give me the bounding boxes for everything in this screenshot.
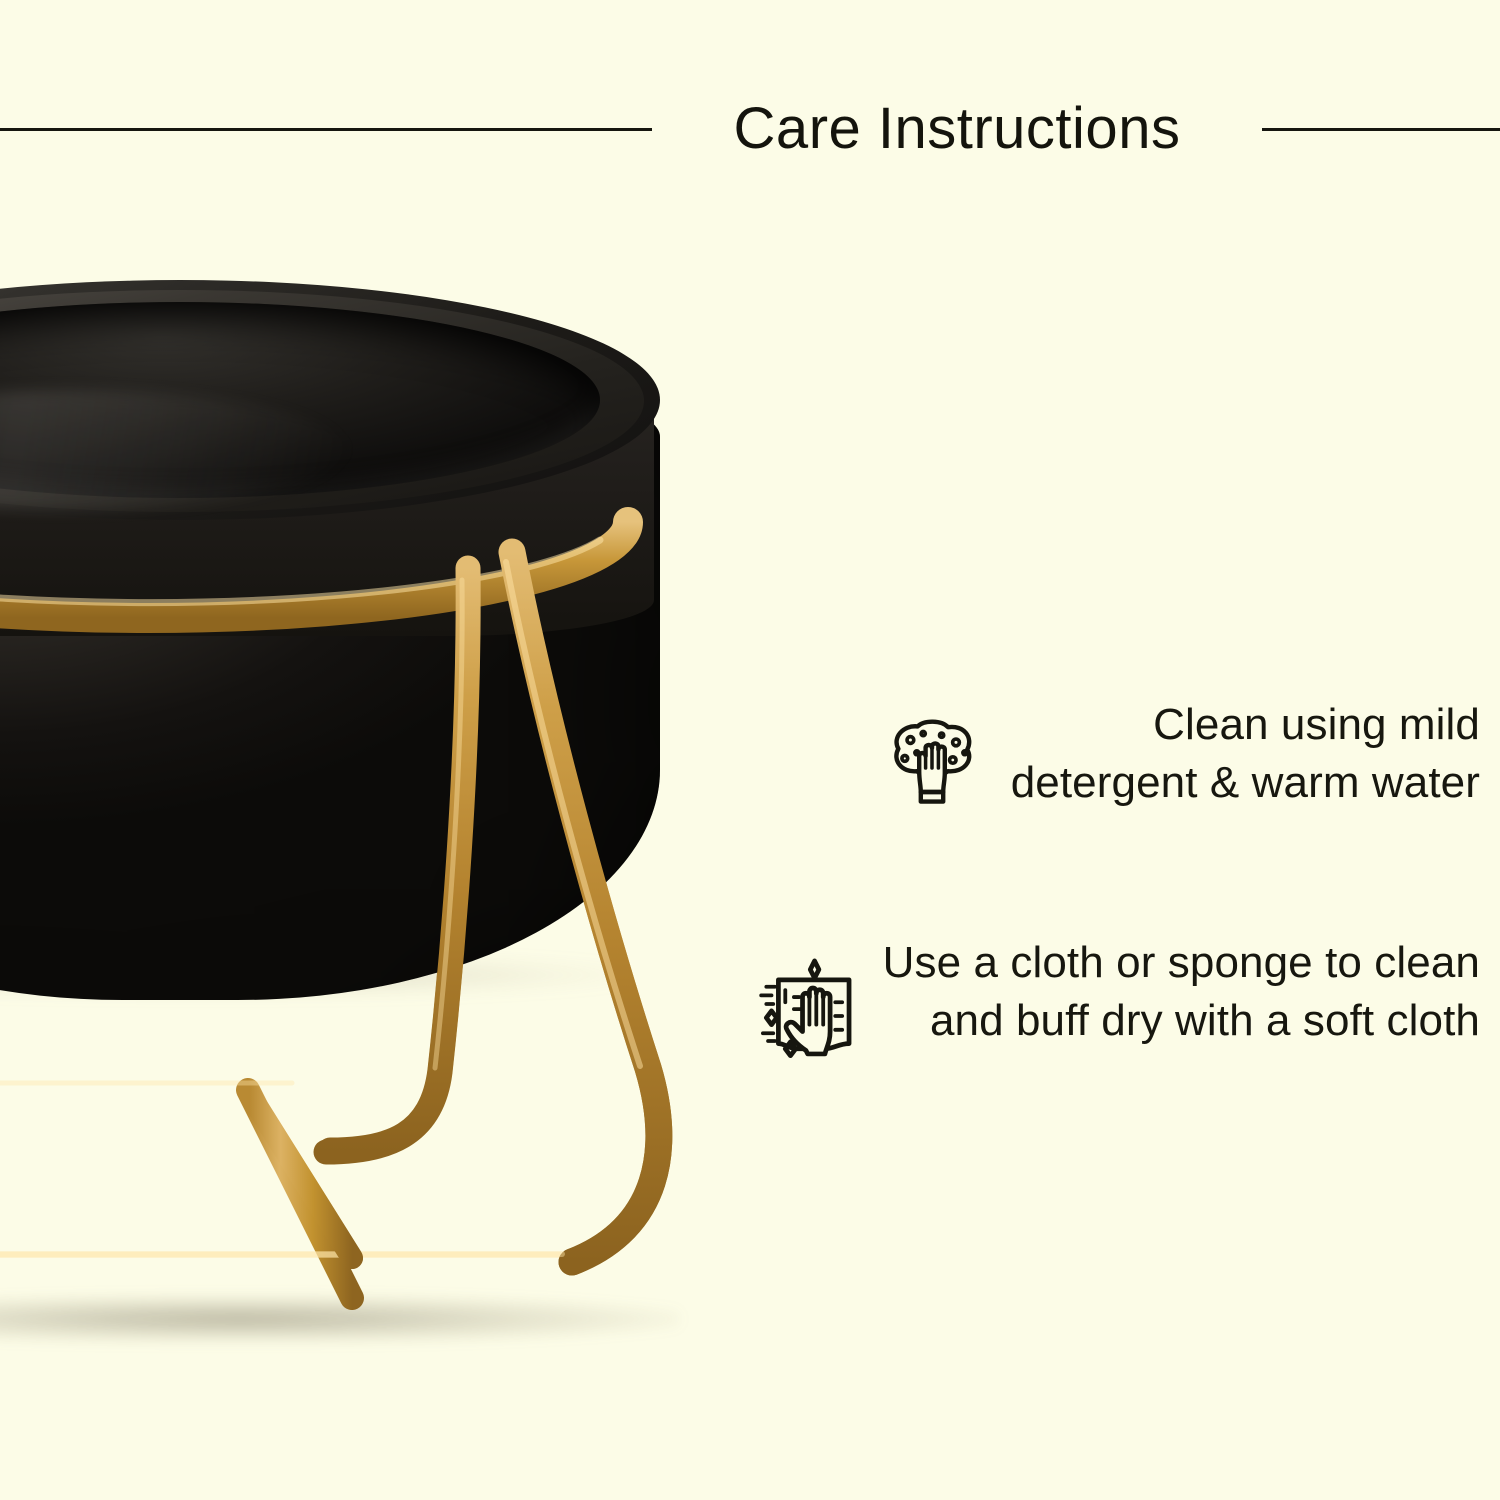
instruction-item: Clean using mild detergent & warm water [720,696,1480,812]
header-rule-left [0,128,652,131]
instruction-text: Use a cloth or sponge to clean and buff … [880,934,1480,1050]
gold-stand-front-overlay [0,200,760,1380]
header-rule-right [1262,128,1500,131]
header-band: Care Instructions [0,96,1500,170]
care-instruction-list: Clean using mild detergent & warm water [720,690,1480,1066]
hand-cloth-wipe-sparkle-icon [756,954,868,1066]
product-photo [0,200,760,1380]
page-title: Care Instructions [652,89,1262,169]
care-instructions-page: Care Instructions [0,0,1500,1500]
instruction-text: Clean using mild detergent & warm water [988,696,1480,812]
instruction-item: Use a cloth or sponge to clean and buff … [720,934,1480,1066]
hand-sponge-icon [884,712,980,808]
